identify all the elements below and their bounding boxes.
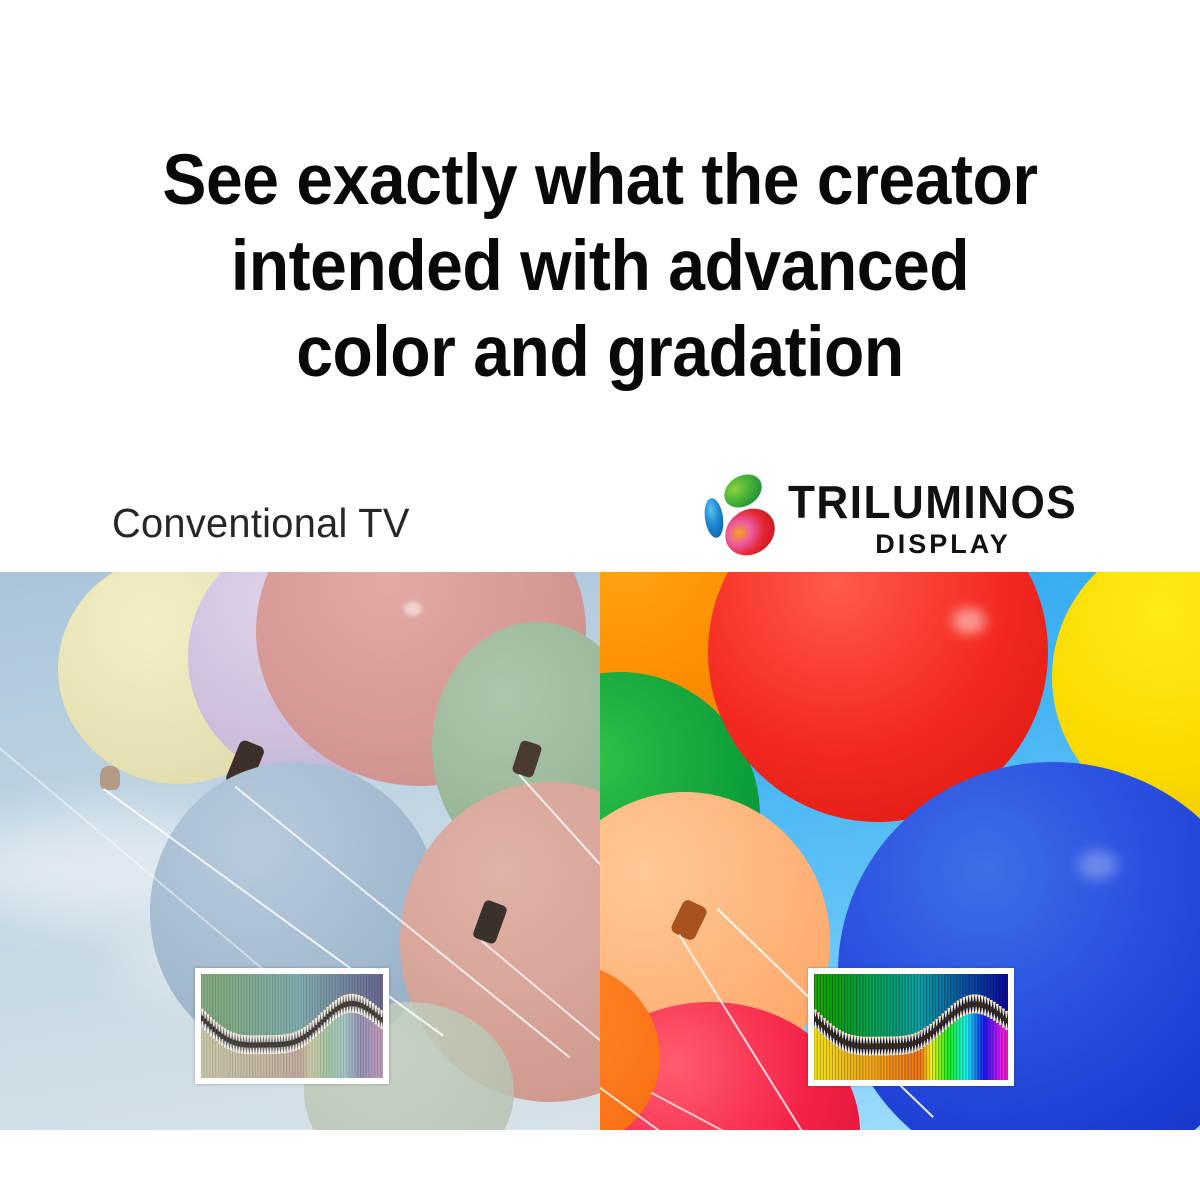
balloon-highlight	[404, 602, 422, 616]
headline-line-3: color and gradation	[42, 310, 1158, 396]
triluminos-wordmark-block: TRILUMINOS DISPLAY	[788, 478, 1118, 559]
balloon-highlight	[1078, 850, 1118, 880]
pencil-inset-conventional	[195, 968, 389, 1084]
comparison-labels-row: Conventional TV	[0, 462, 1200, 572]
pencil-photo-muted	[201, 974, 383, 1078]
balloon-highlight	[952, 608, 986, 634]
headline-line-2: intended with advanced	[42, 224, 1158, 310]
comparison-image-band	[0, 572, 1200, 1130]
triluminos-logo: TRILUMINOS DISPLAY	[700, 472, 1120, 572]
inset-frame	[808, 968, 1014, 1086]
page-title: See exactly what the creator intended wi…	[42, 138, 1158, 396]
conventional-tv-label: Conventional TV	[112, 500, 410, 547]
triluminos-wordmark: TRILUMINOS	[788, 478, 1105, 526]
promotional-image-root: See exactly what the creator intended wi…	[0, 0, 1200, 1200]
headline-line-1: See exactly what the creator	[42, 138, 1158, 224]
inset-frame	[195, 968, 389, 1084]
triluminos-subtitle: DISPLAY	[788, 529, 1098, 559]
triluminos-mark-icon	[700, 472, 784, 560]
pencil-inset-triluminos	[808, 968, 1014, 1086]
balloon-knot	[100, 766, 120, 790]
pencil-photo-vivid	[814, 974, 1008, 1080]
